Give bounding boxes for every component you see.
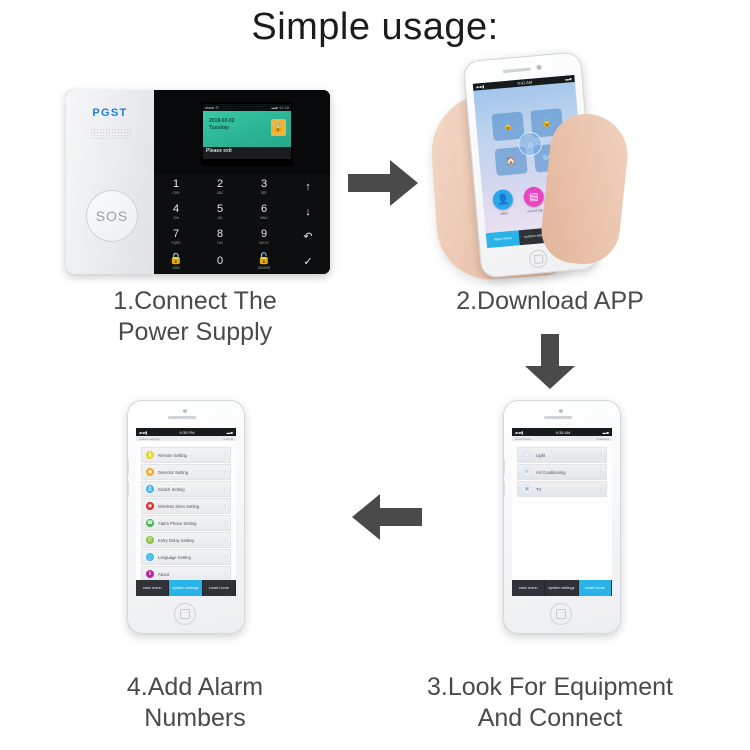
disarm-unlock-key[interactable]: 🔓DISARM bbox=[242, 249, 286, 274]
language-icon: ⓘ bbox=[146, 553, 154, 561]
about-glyph: ℹ bbox=[149, 571, 151, 577]
key-digit: 4 bbox=[173, 204, 179, 215]
key-sublabel: DISARM bbox=[258, 266, 270, 270]
ac-icon: ❄ bbox=[522, 467, 532, 477]
bulb-glyph: ◯ bbox=[524, 452, 530, 458]
down-arrow-key[interactable]: ↓ bbox=[286, 199, 330, 224]
video-glyph: 👤 bbox=[496, 194, 509, 206]
settings-list: ▮ Remote Setting › ◉ Detector Setting › … bbox=[136, 441, 236, 582]
remote-icon: ▮ bbox=[146, 451, 154, 459]
back-arrow-icon: ↶ bbox=[303, 231, 312, 243]
phone-glyph: ☎ bbox=[147, 520, 153, 526]
setting-label: About bbox=[158, 572, 224, 577]
volume-down-button[interactable] bbox=[127, 481, 129, 497]
signal-icon: ▰▰▮ bbox=[139, 430, 147, 435]
setting-label: Language Setting bbox=[158, 555, 224, 560]
delay-glyph: ⏱ bbox=[148, 537, 152, 543]
chevron-right-icon: › bbox=[600, 486, 602, 492]
key-digit: 5 bbox=[217, 204, 223, 215]
battery-icon: ▬■ bbox=[603, 430, 609, 435]
home-button[interactable] bbox=[174, 603, 196, 625]
lcd-datetime: 2018-02-02 Tuesday bbox=[209, 118, 235, 132]
tab-smart-home[interactable]: smart home bbox=[579, 580, 612, 596]
record-log-label: record log bbox=[525, 207, 545, 213]
step-3-caption: 3.Look For Equipment And Connect bbox=[380, 672, 720, 734]
lcd-screen: ▰▰▰ ✇ ▬■ 12:45 2018-02-02 Tuesday 🔒 Plea… bbox=[201, 102, 293, 166]
panel-right-face: ▰▰▰ ✇ ▬■ 12:45 2018-02-02 Tuesday 🔒 Plea… bbox=[154, 90, 330, 274]
key-7[interactable]: 7PQRS bbox=[154, 224, 198, 249]
setting-label: Remote Setting bbox=[158, 453, 224, 458]
tv-glyph: ▣ bbox=[525, 486, 530, 492]
lcd-content: 2018-02-02 Tuesday 🔒 bbox=[203, 111, 291, 147]
list-item[interactable]: ❄ Air Conditioning › bbox=[517, 464, 607, 480]
key-sublabel: WXYZ bbox=[259, 241, 268, 245]
lcd-status-text: Please exit bbox=[206, 148, 232, 154]
lock-icon: 🔒 bbox=[169, 253, 183, 265]
front-camera-icon bbox=[536, 65, 541, 70]
key-sublabel: JKL bbox=[217, 216, 223, 220]
earpiece-speaker-icon bbox=[503, 68, 531, 73]
lock-icon: 🔒 bbox=[271, 119, 286, 136]
usage-infographic: Simple usage: PGST SOS ▰▰▰ ✇ ▬■ 12:45 20… bbox=[0, 0, 750, 750]
key-sublabel: PQRS bbox=[171, 241, 180, 245]
arm-lock-key[interactable]: 🔒ARM bbox=[154, 249, 198, 274]
earpiece-speaker-icon bbox=[544, 416, 572, 419]
chevron-right-icon: › bbox=[224, 486, 226, 492]
smartphone-smart-home: ▰▰▮ 9:35 AM ▬■ smart home 3 devices ◯ Li… bbox=[503, 400, 621, 634]
tab-main-menu[interactable]: main menu bbox=[136, 580, 169, 596]
siren-glyph: ◉ bbox=[148, 503, 152, 509]
key-digit: 8 bbox=[217, 229, 223, 240]
front-camera-icon bbox=[559, 409, 563, 413]
video-icon: 👤 bbox=[492, 189, 514, 211]
lcd-weekday: Tuesday bbox=[209, 125, 235, 132]
panel-left-face: PGST SOS bbox=[66, 90, 155, 274]
back-key[interactable]: ↶ bbox=[286, 224, 330, 249]
key-8[interactable]: 8TUV bbox=[198, 224, 242, 249]
tab-main-menu[interactable]: main menu bbox=[512, 580, 545, 596]
step-1-caption: 1.Connect The Power Supply bbox=[45, 286, 345, 348]
key-sublabel: DEF bbox=[261, 191, 267, 195]
status-bar: ▰▰▮ 9:35 AM ▬■ bbox=[512, 428, 612, 436]
setting-label: Wireless Siren Setting bbox=[158, 504, 224, 509]
signal-icon: ▰▰▮ bbox=[476, 84, 485, 90]
up-arrow-key[interactable]: ↑ bbox=[286, 174, 330, 199]
lcd-date: 2018-02-02 bbox=[209, 118, 235, 125]
list-item[interactable]: ☎ Alarm Phone Setting › bbox=[141, 515, 231, 531]
video-button[interactable]: 👤 video bbox=[492, 189, 514, 216]
key-sublabel: MNO bbox=[260, 216, 267, 220]
remote-glyph: ▮ bbox=[149, 452, 152, 458]
status-time: 9:41 AM bbox=[517, 80, 532, 86]
key-digit: 0 bbox=[217, 256, 223, 267]
lcd-signal-icons: ▰▰▰ ✇ bbox=[205, 104, 219, 111]
sos-button[interactable]: SOS bbox=[86, 190, 138, 242]
about-icon: ℹ bbox=[146, 570, 154, 578]
key-2[interactable]: 2ABC bbox=[198, 174, 242, 199]
earpiece-speaker-icon bbox=[168, 416, 196, 419]
key-4[interactable]: 4GHI bbox=[154, 199, 198, 224]
arrow-step2-to-step3 bbox=[523, 334, 577, 390]
setting-label: Switch Setting bbox=[158, 487, 224, 492]
record-log-button[interactable]: ▤ record log bbox=[523, 186, 545, 213]
alarm-panel-device: PGST SOS ▰▰▰ ✇ ▬■ 12:45 2018-02-02 Tuesd… bbox=[66, 90, 330, 274]
sub-status-right: 3 devices bbox=[596, 437, 609, 441]
home-icon: ⌂ bbox=[527, 139, 533, 148]
home-lock-icon: 🏠 bbox=[506, 156, 517, 166]
hand-holding-phone: ▰▰▮ 9:41 AM ▬■ 🔒 🔓 🏠 SOS ⌂ 👤 video bbox=[424, 52, 654, 284]
list-item[interactable]: ◉ Wireless Siren Setting › bbox=[141, 498, 231, 514]
list-item[interactable]: ⏱ Entry Delay Setting › bbox=[141, 532, 231, 548]
status-time: 9:30 PM bbox=[180, 430, 195, 435]
ac-glyph: ❄ bbox=[525, 469, 529, 475]
list-item[interactable]: ◉ Detector Setting › bbox=[141, 464, 231, 480]
arrow-step3-to-step4 bbox=[350, 492, 422, 542]
lcd-footer: Please exit bbox=[203, 147, 291, 159]
front-camera-icon bbox=[183, 409, 187, 413]
switch-glyph: ⎙ bbox=[148, 486, 152, 492]
unlock-icon: 🔓 bbox=[257, 253, 271, 265]
device-label: Air Conditioning bbox=[536, 470, 600, 475]
sub-status-left: smart home bbox=[515, 437, 531, 441]
arrow-step1-to-step2 bbox=[348, 158, 420, 208]
switch-icon: ⎙ bbox=[146, 485, 154, 493]
down-arrow-icon: ↓ bbox=[305, 206, 311, 218]
tab-smart-home[interactable]: smart home bbox=[203, 580, 236, 596]
settings-screen: ▰▰▮ 9:30 PM ▬■ system settings 8 items ▮… bbox=[136, 428, 236, 596]
smart-home-screen: ▰▰▮ 9:35 AM ▬■ smart home 3 devices ◯ Li… bbox=[512, 428, 612, 596]
lcd-bezel: ▰▰▰ ✇ ▬■ 12:45 2018-02-02 Tuesday 🔒 Plea… bbox=[154, 90, 330, 174]
home-button-square-icon bbox=[534, 254, 544, 264]
list-item[interactable]: ⓘ Language Setting › bbox=[141, 549, 231, 565]
video-label: video bbox=[494, 210, 514, 216]
home-button-square-icon bbox=[180, 609, 190, 619]
chevron-right-icon: › bbox=[224, 452, 226, 458]
key-sublabel: ARM bbox=[172, 266, 179, 270]
phone-icon: ☎ bbox=[146, 519, 154, 527]
keypad[interactable]: 1CHN 2ABC 3DEF ↑ 4GHI 5JKL 6MNO ↓ 7PQRS … bbox=[154, 174, 330, 274]
tab-system-settings[interactable]: system settings bbox=[169, 580, 202, 596]
step-2-caption: 2.Download APP bbox=[400, 286, 700, 317]
volume-up-button[interactable] bbox=[127, 459, 129, 475]
setting-label: Entry Delay Setting bbox=[158, 538, 224, 543]
tab-bar: main menu system settings smart home bbox=[136, 580, 236, 596]
key-digit: 7 bbox=[173, 229, 179, 240]
key-sublabel: TUV bbox=[217, 241, 223, 245]
key-6[interactable]: 6MNO bbox=[242, 199, 286, 224]
device-label: Light bbox=[536, 453, 600, 458]
setting-label: Detector Setting bbox=[158, 470, 224, 475]
delay-icon: ⏱ bbox=[146, 536, 154, 544]
signal-icon: ▰▰▮ bbox=[515, 430, 523, 435]
volume-up-button[interactable] bbox=[503, 459, 505, 475]
page-title: Simple usage: bbox=[0, 6, 750, 49]
chevron-right-icon: › bbox=[224, 520, 226, 526]
up-arrow-icon: ↑ bbox=[305, 181, 311, 193]
sub-status-left: system settings bbox=[139, 437, 160, 441]
device-list: ◯ Light › ❄ Air Conditioning › ▣ TV › bbox=[512, 441, 612, 497]
home-button-square-icon bbox=[556, 609, 566, 619]
key-9[interactable]: 9WXYZ bbox=[242, 224, 286, 249]
siren-icon: ◉ bbox=[146, 502, 154, 510]
language-glyph: ⓘ bbox=[147, 554, 152, 561]
tab-bar: main menu system settings smart home bbox=[512, 580, 612, 596]
tv-icon: ▣ bbox=[522, 484, 532, 494]
lcd-battery-time: ▬■ 12:45 bbox=[271, 104, 289, 111]
status-bar: ▰▰▮ 9:41 AM ▬■ bbox=[473, 75, 575, 91]
tab-main-menu[interactable]: main menu bbox=[486, 230, 521, 248]
setting-label: Alarm Phone Setting bbox=[158, 521, 224, 526]
speaker-grille-icon bbox=[90, 128, 132, 141]
key-sublabel: GHI bbox=[173, 216, 179, 220]
key-1[interactable]: 1CHN bbox=[154, 174, 198, 199]
key-digit: 9 bbox=[261, 229, 267, 240]
pgst-logo: PGST bbox=[66, 107, 154, 119]
chevron-right-icon: › bbox=[224, 469, 226, 475]
step-4-caption: 4.Add Alarm Numbers bbox=[45, 672, 345, 734]
list-item[interactable]: ▣ TV › bbox=[517, 481, 607, 497]
battery-icon: ▬■ bbox=[565, 76, 572, 82]
detector-icon: ◉ bbox=[146, 468, 154, 476]
check-icon: ✓ bbox=[303, 256, 312, 268]
chevron-right-icon: › bbox=[600, 469, 602, 475]
key-digit: 3 bbox=[261, 179, 267, 190]
status-time: 9:35 AM bbox=[556, 430, 571, 435]
smartphone-system-settings: ▰▰▮ 9:30 PM ▬■ system settings 8 items ▮… bbox=[127, 400, 245, 634]
key-3[interactable]: 3DEF bbox=[242, 174, 286, 199]
list-item[interactable]: ⎙ Switch Setting › bbox=[141, 481, 231, 497]
battery-icon: ▬■ bbox=[227, 430, 233, 435]
chevron-right-icon: › bbox=[224, 571, 226, 577]
chevron-right-icon: › bbox=[224, 554, 226, 560]
device-label: TV bbox=[536, 487, 600, 492]
sub-status-right: 8 items bbox=[223, 437, 233, 441]
list-item[interactable]: ◯ Light › bbox=[517, 447, 607, 463]
tab-system-settings[interactable]: system settings bbox=[545, 580, 578, 596]
chevron-right-icon: › bbox=[224, 537, 226, 543]
list-item[interactable]: ▮ Remote Setting › bbox=[141, 447, 231, 463]
key-digit: 2 bbox=[217, 179, 223, 190]
record-glyph: ▤ bbox=[529, 191, 539, 203]
key-5[interactable]: 5JKL bbox=[198, 199, 242, 224]
status-bar: ▰▰▮ 9:30 PM ▬■ bbox=[136, 428, 236, 436]
record-log-icon: ▤ bbox=[523, 186, 545, 208]
home-button[interactable] bbox=[550, 603, 572, 625]
lcd-status-bar: ▰▰▰ ✇ ▬■ 12:45 bbox=[203, 104, 291, 111]
key-sublabel: CHN bbox=[173, 191, 180, 195]
confirm-key[interactable]: ✓ bbox=[286, 249, 330, 274]
volume-down-button[interactable] bbox=[503, 481, 505, 497]
key-digit: 6 bbox=[261, 204, 267, 215]
bulb-icon: ◯ bbox=[522, 450, 532, 460]
key-sublabel: ABC bbox=[217, 191, 224, 195]
detector-glyph: ◉ bbox=[148, 469, 152, 475]
lock-icon: 🔒 bbox=[503, 121, 514, 131]
chevron-right-icon: › bbox=[600, 452, 602, 458]
key-digit: 1 bbox=[173, 179, 179, 190]
chevron-right-icon: › bbox=[224, 503, 226, 509]
key-0[interactable]: 0 bbox=[198, 249, 242, 274]
home-button[interactable] bbox=[528, 249, 548, 269]
unlock-icon: 🔓 bbox=[542, 118, 553, 128]
